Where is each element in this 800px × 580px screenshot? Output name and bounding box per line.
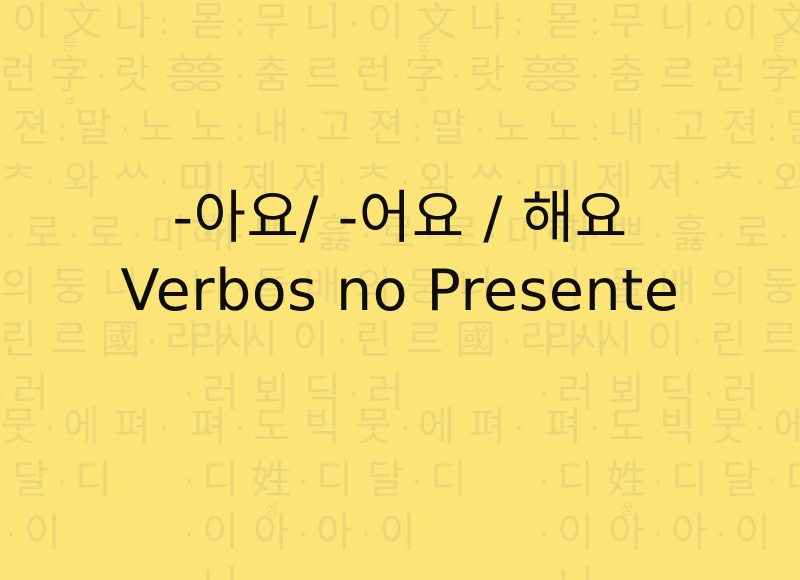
pattern-glyph: 르 (297, 55, 348, 95)
pattern-glyph: 뭇 (703, 407, 754, 447)
pattern-separator: · (538, 571, 550, 580)
pattern-hanja: 문字ᅙ (399, 55, 450, 95)
pattern-glyph: 러 (5, 373, 56, 413)
pattern-glyph: 말 (423, 108, 474, 148)
pattern-glyph: 펴 (107, 407, 158, 447)
pattern-separator: · (0, 378, 5, 412)
pattern-separator: · (538, 518, 550, 552)
pattern-glyph: 무 (246, 2, 297, 42)
pattern-separator: · (297, 465, 309, 499)
pattern-glyph: 아 (0, 513, 5, 553)
pattern-row: ·이아·아·이 (183, 513, 538, 553)
pattern-glyph: 말 (68, 108, 119, 148)
pattern-row: 흥·춤르런문字ᅙ·랏흥 (183, 55, 538, 95)
pattern-separator: · (715, 518, 727, 552)
pattern-separator: : (158, 7, 170, 41)
pattern-row: ·러뵈딕·러 (0, 373, 183, 413)
pattern-glyph: 달 (5, 460, 56, 500)
pattern-glyph: 이 (360, 2, 411, 42)
pattern-glyph: 딕 (652, 373, 703, 413)
pattern-glyph: 라 (538, 320, 589, 360)
pattern-hanja: 문字ᅙ (754, 55, 800, 95)
pattern-separator: · (56, 465, 68, 499)
pattern-glyph: 나 (462, 2, 513, 42)
pattern-glyph: 뵈 (246, 373, 297, 413)
pattern-glyph: 펴 (183, 407, 234, 447)
pattern-glyph: 니 (297, 2, 348, 42)
pattern-glyph: 런 (0, 55, 44, 95)
pattern-row: 라시이·린르國·라시 (0, 320, 183, 360)
pattern-glyph: 노 (538, 108, 589, 148)
pattern-glyph: 내 (246, 108, 297, 148)
pattern-glyph: 무 (601, 2, 652, 42)
title-line-portuguese: Verbos no Presente (0, 263, 800, 320)
pattern-glyph: 니 (195, 566, 246, 580)
pattern-separator: · (336, 325, 348, 359)
pattern-glyph: 디 (68, 460, 119, 500)
pattern-row: 노:내·고젼:말·노 (183, 108, 538, 148)
pattern-row: 몯:무니·이文나: (183, 2, 538, 42)
pattern-row: 흥·춤르런문字ᅙ·랏흥 (538, 55, 800, 95)
pattern-separator: · (5, 518, 17, 552)
pattern-glyph: 디 (309, 460, 360, 500)
pattern-glyph: 몯 (538, 2, 589, 42)
pattern-glyph: 런 (703, 55, 754, 95)
pattern-separator: · (348, 378, 360, 412)
pattern-glyph: 젼 (715, 108, 766, 148)
pattern-row: ·디姓셩·디달·디 (183, 460, 538, 500)
pattern-separator: · (183, 571, 195, 580)
pattern-glyph: 이 (17, 513, 68, 553)
pattern-row: ·니 (183, 566, 538, 580)
pattern-hanja: 문字ᅙ (44, 55, 95, 95)
pattern-separator: · (652, 465, 664, 499)
pattern-row: 몯:무니·이文나: (0, 2, 183, 42)
pattern-glyph: 시 (589, 320, 640, 360)
pattern-glyph: 르 (399, 320, 450, 360)
pattern-separator: · (234, 60, 246, 94)
pattern-glyph: 린 (703, 320, 754, 360)
pattern-glyph: 말 (778, 108, 800, 148)
pattern-separator: : (589, 113, 601, 147)
pattern-glyph: 고 (0, 108, 5, 148)
pattern-row: ·러뵈딕·러 (183, 373, 538, 413)
pattern-glyph: 뭇 (0, 407, 44, 447)
pattern-glyph: 내 (601, 108, 652, 148)
pattern-separator: · (0, 7, 5, 41)
pattern-separator: · (754, 412, 766, 446)
pattern-glyph: 러 (360, 373, 411, 413)
pattern-separator: · (119, 113, 131, 147)
pattern-glyph: 에 (766, 407, 800, 447)
pattern-glyph: 디 (0, 460, 5, 500)
pattern-glyph: 디 (778, 460, 800, 500)
slide-title: -아요/ -어요 / 해요 Verbos no Presente (0, 190, 800, 320)
pattern-row: 노:내·고젼:말·노 (538, 108, 800, 148)
pattern-separator: · (652, 113, 664, 147)
pattern-glyph: 이 (5, 2, 56, 42)
pattern-row: 흥·춤르런문字ᅙ·랏흥 (0, 55, 183, 95)
pattern-glyph: 니 (550, 566, 601, 580)
pattern-glyph: 디 (550, 460, 601, 500)
pattern-separator: : (766, 113, 778, 147)
pattern-glyph: 랏 (462, 55, 513, 95)
pattern-separator: · (183, 518, 195, 552)
pattern-row: ·이아·아·이 (0, 513, 183, 553)
pattern-separator: · (44, 412, 56, 446)
pattern-glyph: 이 (195, 513, 246, 553)
pattern-glyph: 노 (131, 108, 182, 148)
pattern-separator: · (297, 518, 309, 552)
pattern-separator: : (411, 113, 423, 147)
pattern-glyph: 니 (652, 2, 703, 42)
pattern-row: ·니 (538, 566, 800, 580)
pattern-glyph: 흥 (183, 55, 234, 95)
pattern-separator: · (589, 412, 601, 446)
pattern-glyph: 린 (0, 320, 44, 360)
pattern-glyph: 노 (183, 108, 234, 148)
pattern-glyph: 에 (56, 407, 107, 447)
pattern-row: 펴·도빅뭇·에펴· (0, 407, 183, 447)
pattern-glyph: 젼 (360, 108, 411, 148)
pattern-separator: · (691, 325, 703, 359)
pattern-glyph: 노 (486, 108, 537, 148)
pattern-glyph: 뵈 (601, 373, 652, 413)
pattern-separator: · (158, 412, 170, 446)
pattern-separator: : (513, 7, 525, 41)
pattern-glyph: 춤 (601, 55, 652, 95)
pattern-glyph: 디 (195, 460, 246, 500)
pattern-row: ·러뵈딕·러 (538, 373, 800, 413)
pattern-separator: · (348, 7, 360, 41)
pattern-glyph: 뭇 (348, 407, 399, 447)
pattern-separator: · (411, 465, 423, 499)
pattern-glyph: 고 (309, 108, 360, 148)
pattern-glyph: 흥 (538, 55, 589, 95)
pattern-glyph: 디 (423, 460, 474, 500)
pattern-separator: · (183, 465, 195, 499)
pattern-separator: · (513, 412, 525, 446)
title-line-korean: -아요/ -어요 / 해요 (0, 190, 800, 247)
pattern-separator: : (234, 113, 246, 147)
pattern-glyph: 르 (44, 320, 95, 360)
pattern-separator: : (56, 113, 68, 147)
pattern-row: 라시이·린르國·라시 (183, 320, 538, 360)
pattern-separator: · (450, 60, 462, 94)
pattern-glyph: 라 (513, 320, 564, 360)
pattern-glyph: 라 (183, 320, 234, 360)
pattern-glyph: 아 (664, 513, 715, 553)
pattern-glyph: 르 (652, 55, 703, 95)
pattern-glyph: 달 (715, 460, 766, 500)
pattern-glyph: 시 (234, 320, 285, 360)
pattern-glyph: 러 (550, 373, 601, 413)
pattern-row: ·디姓셩·디달·디 (0, 460, 183, 500)
pattern-glyph: 도 (246, 407, 297, 447)
pattern-glyph: 아 (601, 513, 652, 553)
pattern-glyph: 딕 (297, 373, 348, 413)
pattern-glyph: 젼 (5, 108, 56, 148)
pattern-glyph: 러 (715, 373, 766, 413)
pattern-glyph: 달 (360, 460, 411, 500)
pattern-glyph: 펴 (462, 407, 513, 447)
pattern-glyph: 文 (411, 2, 462, 42)
pattern-hanja: 姓셩 (601, 460, 652, 500)
pattern-glyph: 랏 (107, 55, 158, 95)
pattern-glyph: 文 (766, 2, 800, 42)
pattern-glyph: 라 (158, 320, 209, 360)
pattern-glyph: 고 (664, 108, 715, 148)
pattern-glyph: 빅 (652, 407, 703, 447)
pattern-separator: · (538, 378, 550, 412)
pattern-glyph: 린 (348, 320, 399, 360)
pattern-row: 펴·도빅뭇·에펴· (538, 407, 800, 447)
pattern-separator: · (474, 113, 486, 147)
pattern-separator: · (234, 412, 246, 446)
pattern-separator: · (183, 378, 195, 412)
pattern-glyph: 러 (195, 373, 246, 413)
pattern-separator: : (234, 7, 246, 41)
pattern-row: 노:내·고젼:말·노 (0, 108, 183, 148)
pattern-glyph: 시 (209, 320, 260, 360)
pattern-glyph: 몯 (183, 2, 234, 42)
pattern-separator: · (146, 325, 158, 359)
pattern-glyph: 이 (727, 513, 778, 553)
pattern-glyph: 國 (450, 320, 501, 360)
pattern-glyph: 文 (56, 2, 107, 42)
pattern-glyph: 디 (664, 460, 715, 500)
pattern-glyph: 이 (640, 320, 691, 360)
pattern-separator: · (703, 7, 715, 41)
pattern-glyph: 펴 (538, 407, 589, 447)
pattern-hanja: 姓셩 (246, 460, 297, 500)
pattern-glyph: 시 (564, 320, 615, 360)
pattern-separator: · (399, 412, 411, 446)
pattern-glyph: 르 (754, 320, 800, 360)
pattern-glyph: 런 (348, 55, 399, 95)
pattern-separator: · (703, 378, 715, 412)
pattern-separator: · (297, 113, 309, 147)
pattern-separator: · (360, 518, 372, 552)
pattern-glyph: 이 (715, 2, 766, 42)
pattern-row: ·니 (0, 566, 183, 580)
pattern-glyph: 아 (246, 513, 297, 553)
pattern-separator: · (589, 60, 601, 94)
pattern-glyph: 나 (107, 2, 158, 42)
pattern-separator: · (538, 465, 550, 499)
pattern-glyph: 이 (285, 320, 336, 360)
pattern-row: 몯:무니·이文나: (538, 2, 800, 42)
pattern-separator: · (95, 60, 107, 94)
pattern-glyph: 이 (372, 513, 423, 553)
pattern-row: 라시이·린르國·라시 (538, 320, 800, 360)
pattern-glyph: 이 (550, 513, 601, 553)
pattern-separator: · (652, 518, 664, 552)
pattern-row: ·이아·아·이 (538, 513, 800, 553)
pattern-glyph: 흥 (513, 55, 564, 95)
pattern-separator: : (589, 7, 601, 41)
pattern-row: ·디姓셩·디달·디 (538, 460, 800, 500)
pattern-glyph: 아 (309, 513, 360, 553)
pattern-glyph: 빅 (297, 407, 348, 447)
pattern-row: 펴·도빅뭇·에펴· (183, 407, 538, 447)
pattern-glyph: 에 (411, 407, 462, 447)
pattern-glyph: 춤 (246, 55, 297, 95)
pattern-glyph: 도 (601, 407, 652, 447)
pattern-glyph: 흥 (158, 55, 209, 95)
pattern-separator: · (501, 325, 513, 359)
pattern-glyph: 國 (95, 320, 146, 360)
pattern-separator: · (766, 465, 778, 499)
slide-canvas: 몯:무니·이文나:흥·춤르런문字ᅙ·랏흥노:내·고젼:말·노미제져·ᄎ·와ᄊ·미… (0, 0, 800, 580)
